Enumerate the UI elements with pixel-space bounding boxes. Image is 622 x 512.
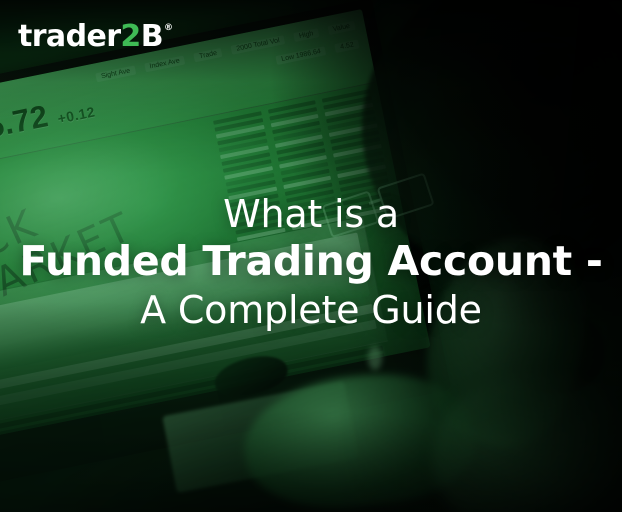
title-line-3: A Complete Guide — [0, 288, 622, 332]
registered-trademark-icon: ® — [164, 24, 172, 33]
brand-logo[interactable]: trader 2 B ® — [18, 22, 172, 52]
page-title: What is a Funded Trading Account - A Com… — [0, 192, 622, 332]
title-line-1: What is a — [0, 192, 622, 236]
logo-text-b: B — [141, 22, 163, 52]
title-line-2: Funded Trading Account - — [0, 238, 622, 286]
logo-text-trader: trader — [18, 22, 120, 52]
logo-text-two: 2 — [120, 22, 140, 52]
hero-banner: 7K 2245.72 +0.12 Sight Ave Index Ave Tra… — [0, 0, 622, 512]
